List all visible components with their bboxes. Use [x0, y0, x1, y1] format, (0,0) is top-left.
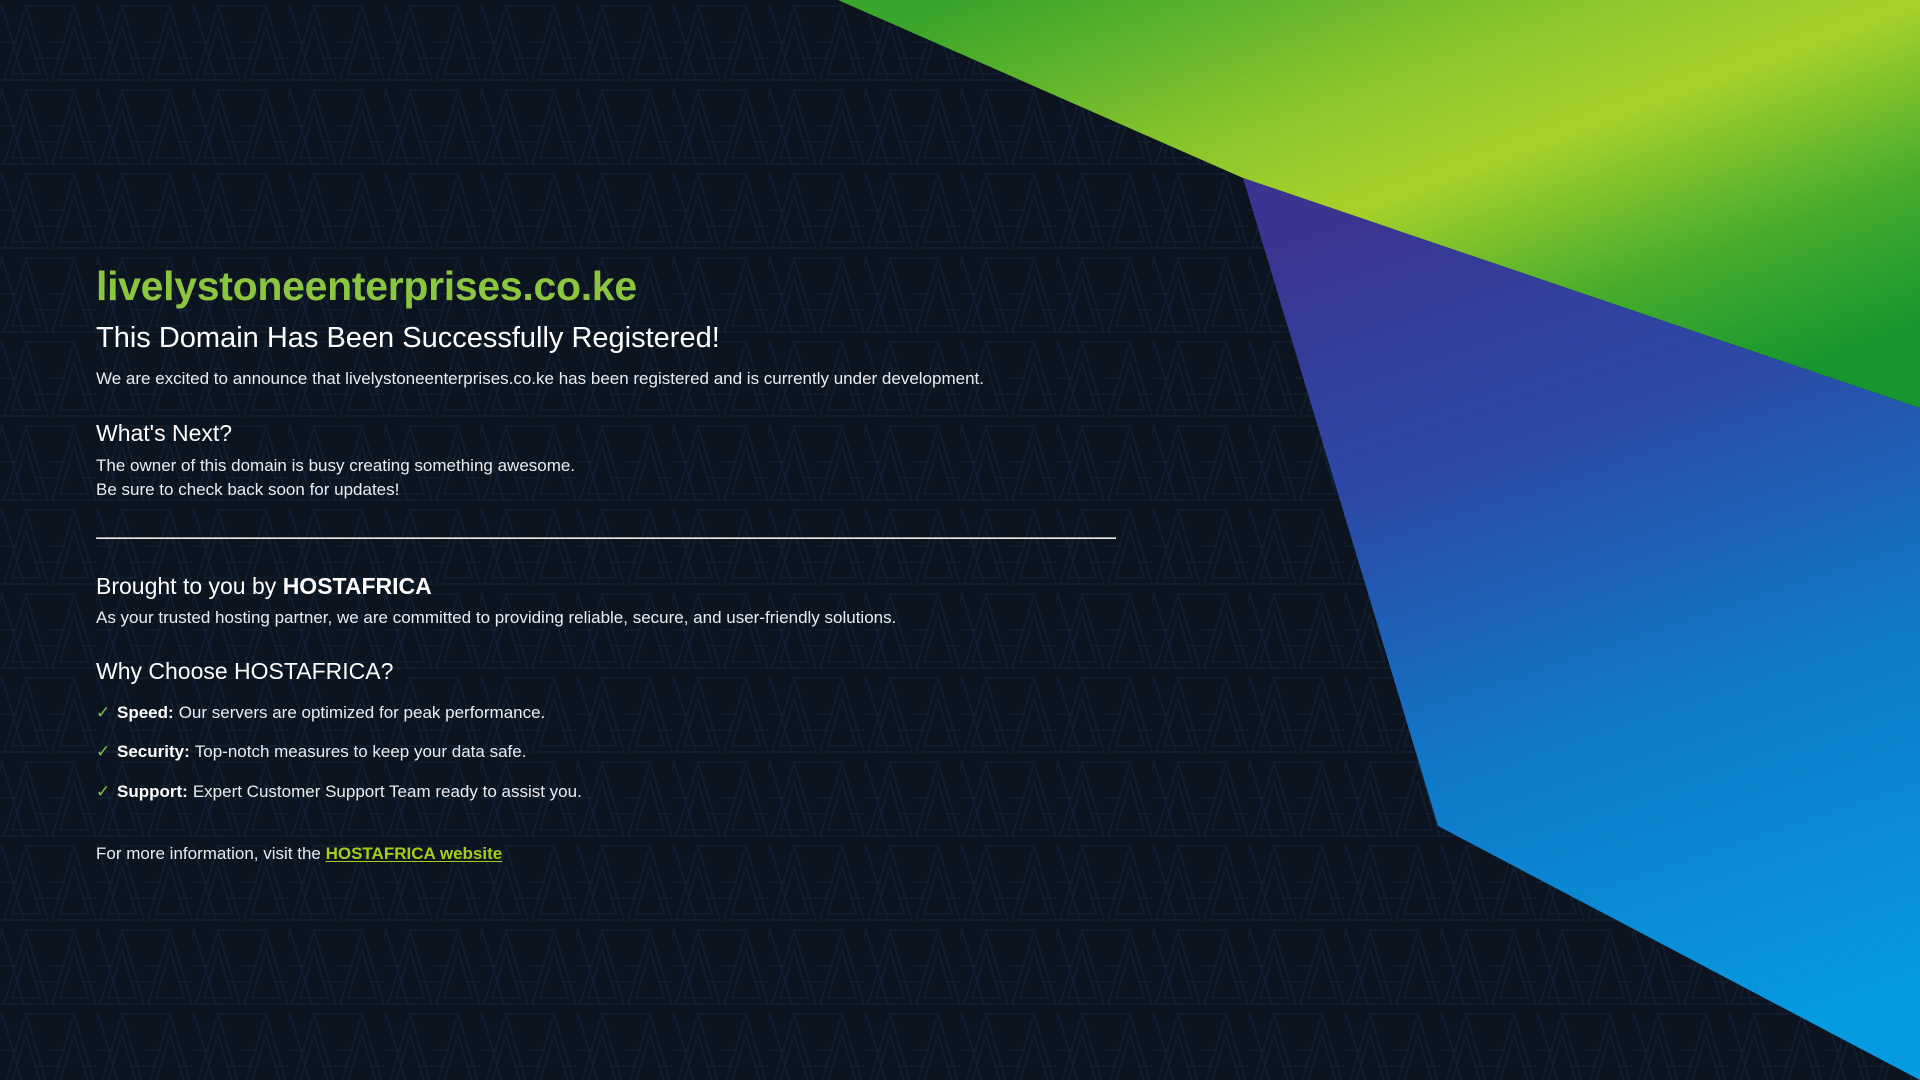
page-content: livelystoneenterprises.co.ke This Domain… [96, 262, 1126, 864]
domain-name-title: livelystoneenterprises.co.ke [96, 262, 1126, 310]
whats-next-line-1: The owner of this domain is busy creatin… [96, 454, 1126, 479]
check-icon: ✓ [96, 779, 117, 805]
registration-headline: This Domain Has Been Successfully Regist… [96, 321, 1126, 356]
sponsor-brand-name: HOSTAFRICA [283, 573, 432, 599]
feature-description: Expert Customer Support Team ready to as… [193, 782, 582, 801]
list-item: ✓ Support:Expert Customer Support Team r… [96, 779, 1126, 805]
feature-text: Speed:Our servers are optimized for peak… [117, 700, 545, 726]
feature-label: Security: [117, 742, 190, 761]
sponsor-tagline: As your trusted hosting partner, we are … [96, 606, 1126, 631]
spacer [96, 631, 1126, 658]
sponsor-prefix: Brought to you by [96, 573, 283, 599]
whats-next-line-2: Be sure to check back soon for updates! [96, 478, 1126, 503]
footer-info-line: For more information, visit the HOSTAFRI… [96, 844, 1126, 864]
check-icon: ✓ [96, 739, 117, 765]
feature-description: Top-notch measures to keep your data saf… [195, 742, 527, 761]
sponsor-heading: Brought to you by HOSTAFRICA [96, 573, 1126, 600]
feature-text: Security:Top-notch measures to keep your… [117, 739, 526, 765]
feature-list: ✓ Speed:Our servers are optimized for pe… [96, 700, 1126, 805]
why-choose-heading: Why Choose HOSTAFRICA? [96, 658, 1126, 685]
list-item: ✓ Speed:Our servers are optimized for pe… [96, 700, 1126, 726]
feature-text: Support:Expert Customer Support Team rea… [117, 779, 582, 805]
spacer [96, 392, 1126, 419]
domain-parking-page: livelystoneenterprises.co.ke This Domain… [0, 0, 1920, 1080]
section-divider [96, 537, 1116, 539]
blue-triangle [1243, 178, 1920, 1080]
list-item: ✓ Security:Top-notch measures to keep yo… [96, 739, 1126, 765]
feature-description: Our servers are optimized for peak perfo… [179, 703, 546, 722]
check-icon: ✓ [96, 700, 117, 726]
footer-prefix: For more information, visit the [96, 844, 326, 863]
feature-label: Speed: [117, 703, 174, 722]
whats-next-heading: What's Next? [96, 419, 1126, 449]
registration-intro-text: We are excited to announce that livelyst… [96, 367, 1126, 392]
feature-label: Support: [117, 782, 188, 801]
hostafrica-website-link[interactable]: HOSTAFRICA website [326, 844, 503, 863]
